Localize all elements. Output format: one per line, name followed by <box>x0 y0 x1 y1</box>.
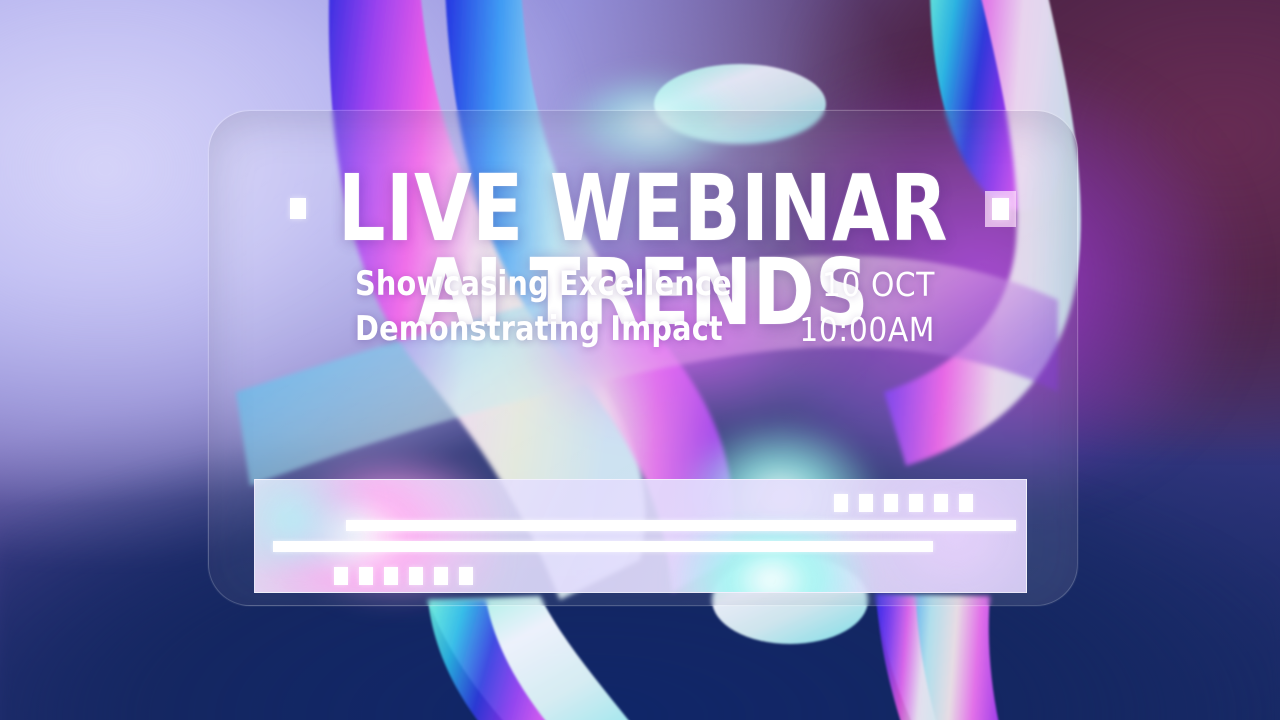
panel-dot <box>959 494 973 512</box>
event-time: 10:00AM <box>799 307 935 352</box>
panel-dot <box>384 567 398 585</box>
panel-dot <box>334 567 348 585</box>
poster-canvas: LIVE WEBINAR AI TRENDS Showcasing Excell… <box>0 0 1280 720</box>
subtitle-date-row: Showcasing Excellence Demonstrating Impa… <box>355 262 935 352</box>
subtitle-block: Showcasing Excellence Demonstrating Impa… <box>355 262 732 352</box>
panel-dot <box>409 567 423 585</box>
panel-dot <box>359 567 373 585</box>
panel-dot <box>884 494 898 512</box>
panel-dot <box>909 494 923 512</box>
panel-dot <box>834 494 848 512</box>
panel-dot-row-bottom-left <box>334 567 473 585</box>
panel-dot <box>459 567 473 585</box>
panel-dot <box>434 567 448 585</box>
panel-dot-row-top-right <box>834 494 973 512</box>
panel-placeholder-bar-2 <box>273 541 933 552</box>
schedule-block: 10 OCT 10:00AM <box>799 262 935 352</box>
subtitle-line-2: Demonstrating Impact <box>355 307 732 352</box>
subtitle-line-1: Showcasing Excellence <box>355 262 732 307</box>
panel-dot <box>859 494 873 512</box>
panel-placeholder-bar-1 <box>346 520 1016 531</box>
event-date: 10 OCT <box>799 262 935 307</box>
frosted-info-panel <box>254 479 1027 593</box>
panel-dot <box>934 494 948 512</box>
